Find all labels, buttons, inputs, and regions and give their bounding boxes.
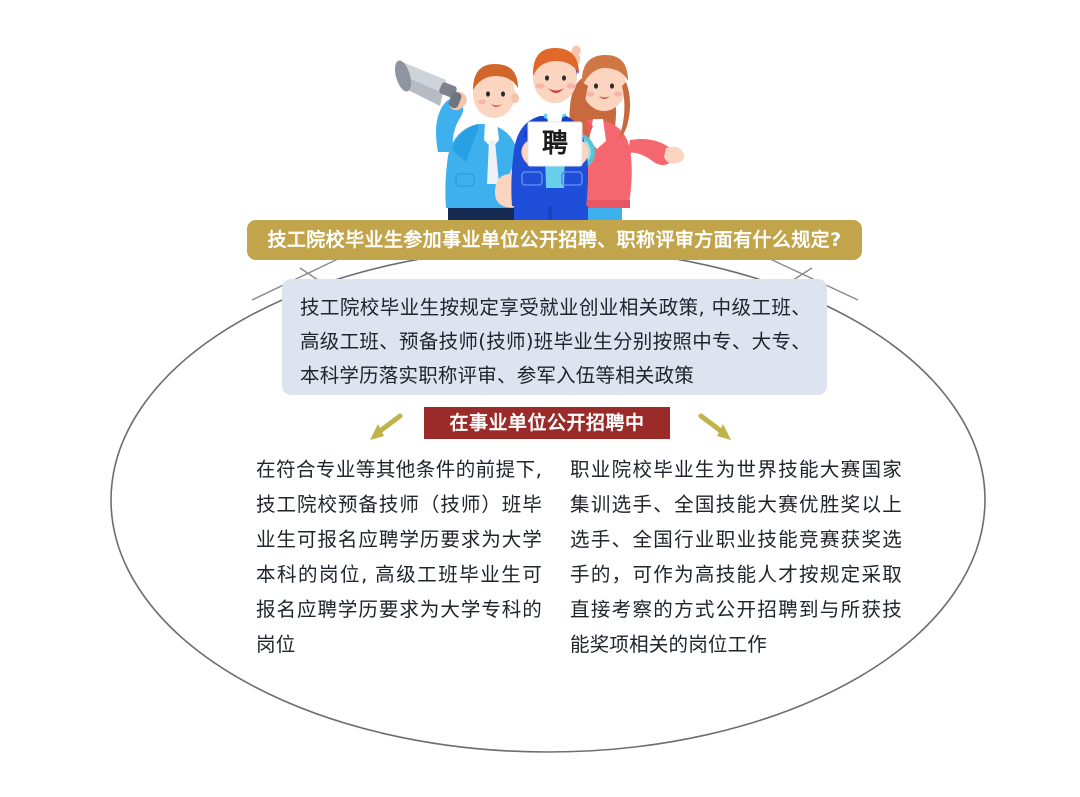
three-people-recruitment-illustration: 聘 [390,24,730,229]
red-subsection-banner: 在事业单位公开招聘中 [424,407,670,439]
gold-title-banner-text: 技工院校毕业生参加事业单位公开招聘、职称评审方面有什么规定? [267,231,841,250]
right-detail-column: 职业院校毕业生为世界技能大赛国家集训选手、全国技能大赛优胜奖以上选手、全国行业职… [570,452,902,662]
hiring-sign-text: 聘 [542,129,568,159]
left-detail-column: 在符合专业等其他条件的前提下, 技工院校预备技师（技师）班毕业生可报名应聘学历要… [256,452,542,662]
infographic-root: 聘 技工院校毕业生参加事业单位公开招聘、职称评审方面有什么规定? 技工院校毕业生… [0,0,1080,797]
red-subsection-banner-text: 在事业单位公开招聘中 [449,414,644,433]
man-with-megaphone [392,59,523,228]
megaphone-icon [392,59,463,110]
arrow-down-left-icon [364,412,404,446]
arrow-down-right-icon [697,412,737,446]
policy-summary-card: 技工院校毕业生按规定享受就业创业相关政策, 中级工班、高级工班、预备技师(技师)… [282,279,827,395]
gold-title-banner: 技工院校毕业生参加事业单位公开招聘、职称评审方面有什么规定? [247,220,862,260]
man-with-hiring-sign: 聘 [511,48,588,228]
policy-summary-text: 技工院校毕业生按规定享受就业创业相关政策, 中级工班、高级工班、预备技师(技师)… [300,291,811,393]
hiring-sign-card: 聘 [528,122,582,166]
